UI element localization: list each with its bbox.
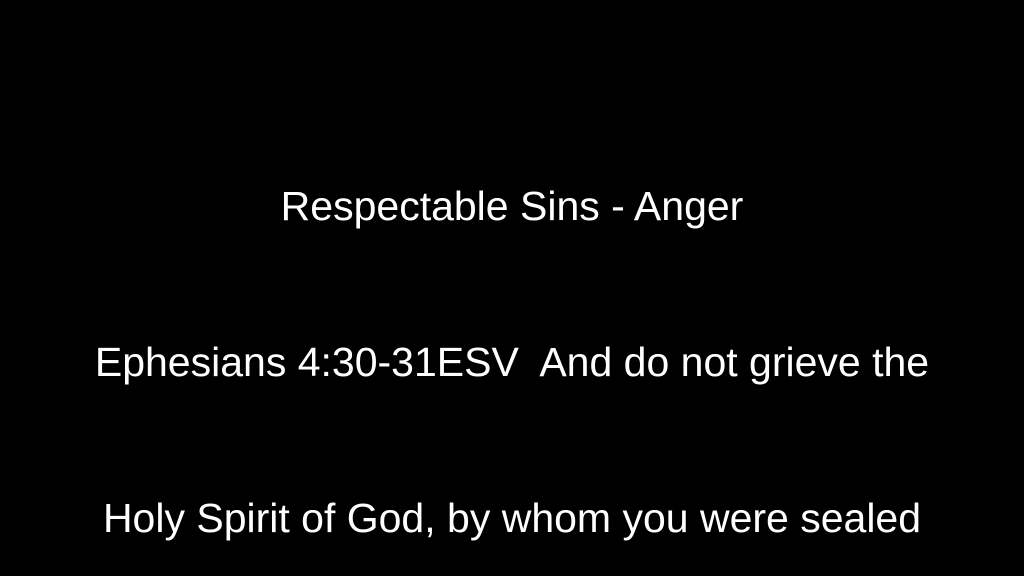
scripture-line-2: Holy Spirit of God, by whom you were sea… bbox=[16, 492, 1008, 544]
slide-title-line: Respectable Sins - Anger bbox=[16, 180, 1008, 232]
presentation-slide: Respectable Sins - Anger Ephesians 4:30-… bbox=[0, 0, 1024, 576]
scripture-line-1: Ephesians 4:30-31ESV And do not grieve t… bbox=[16, 336, 1008, 388]
slide-text-block: Respectable Sins - Anger Ephesians 4:30-… bbox=[0, 76, 1024, 576]
